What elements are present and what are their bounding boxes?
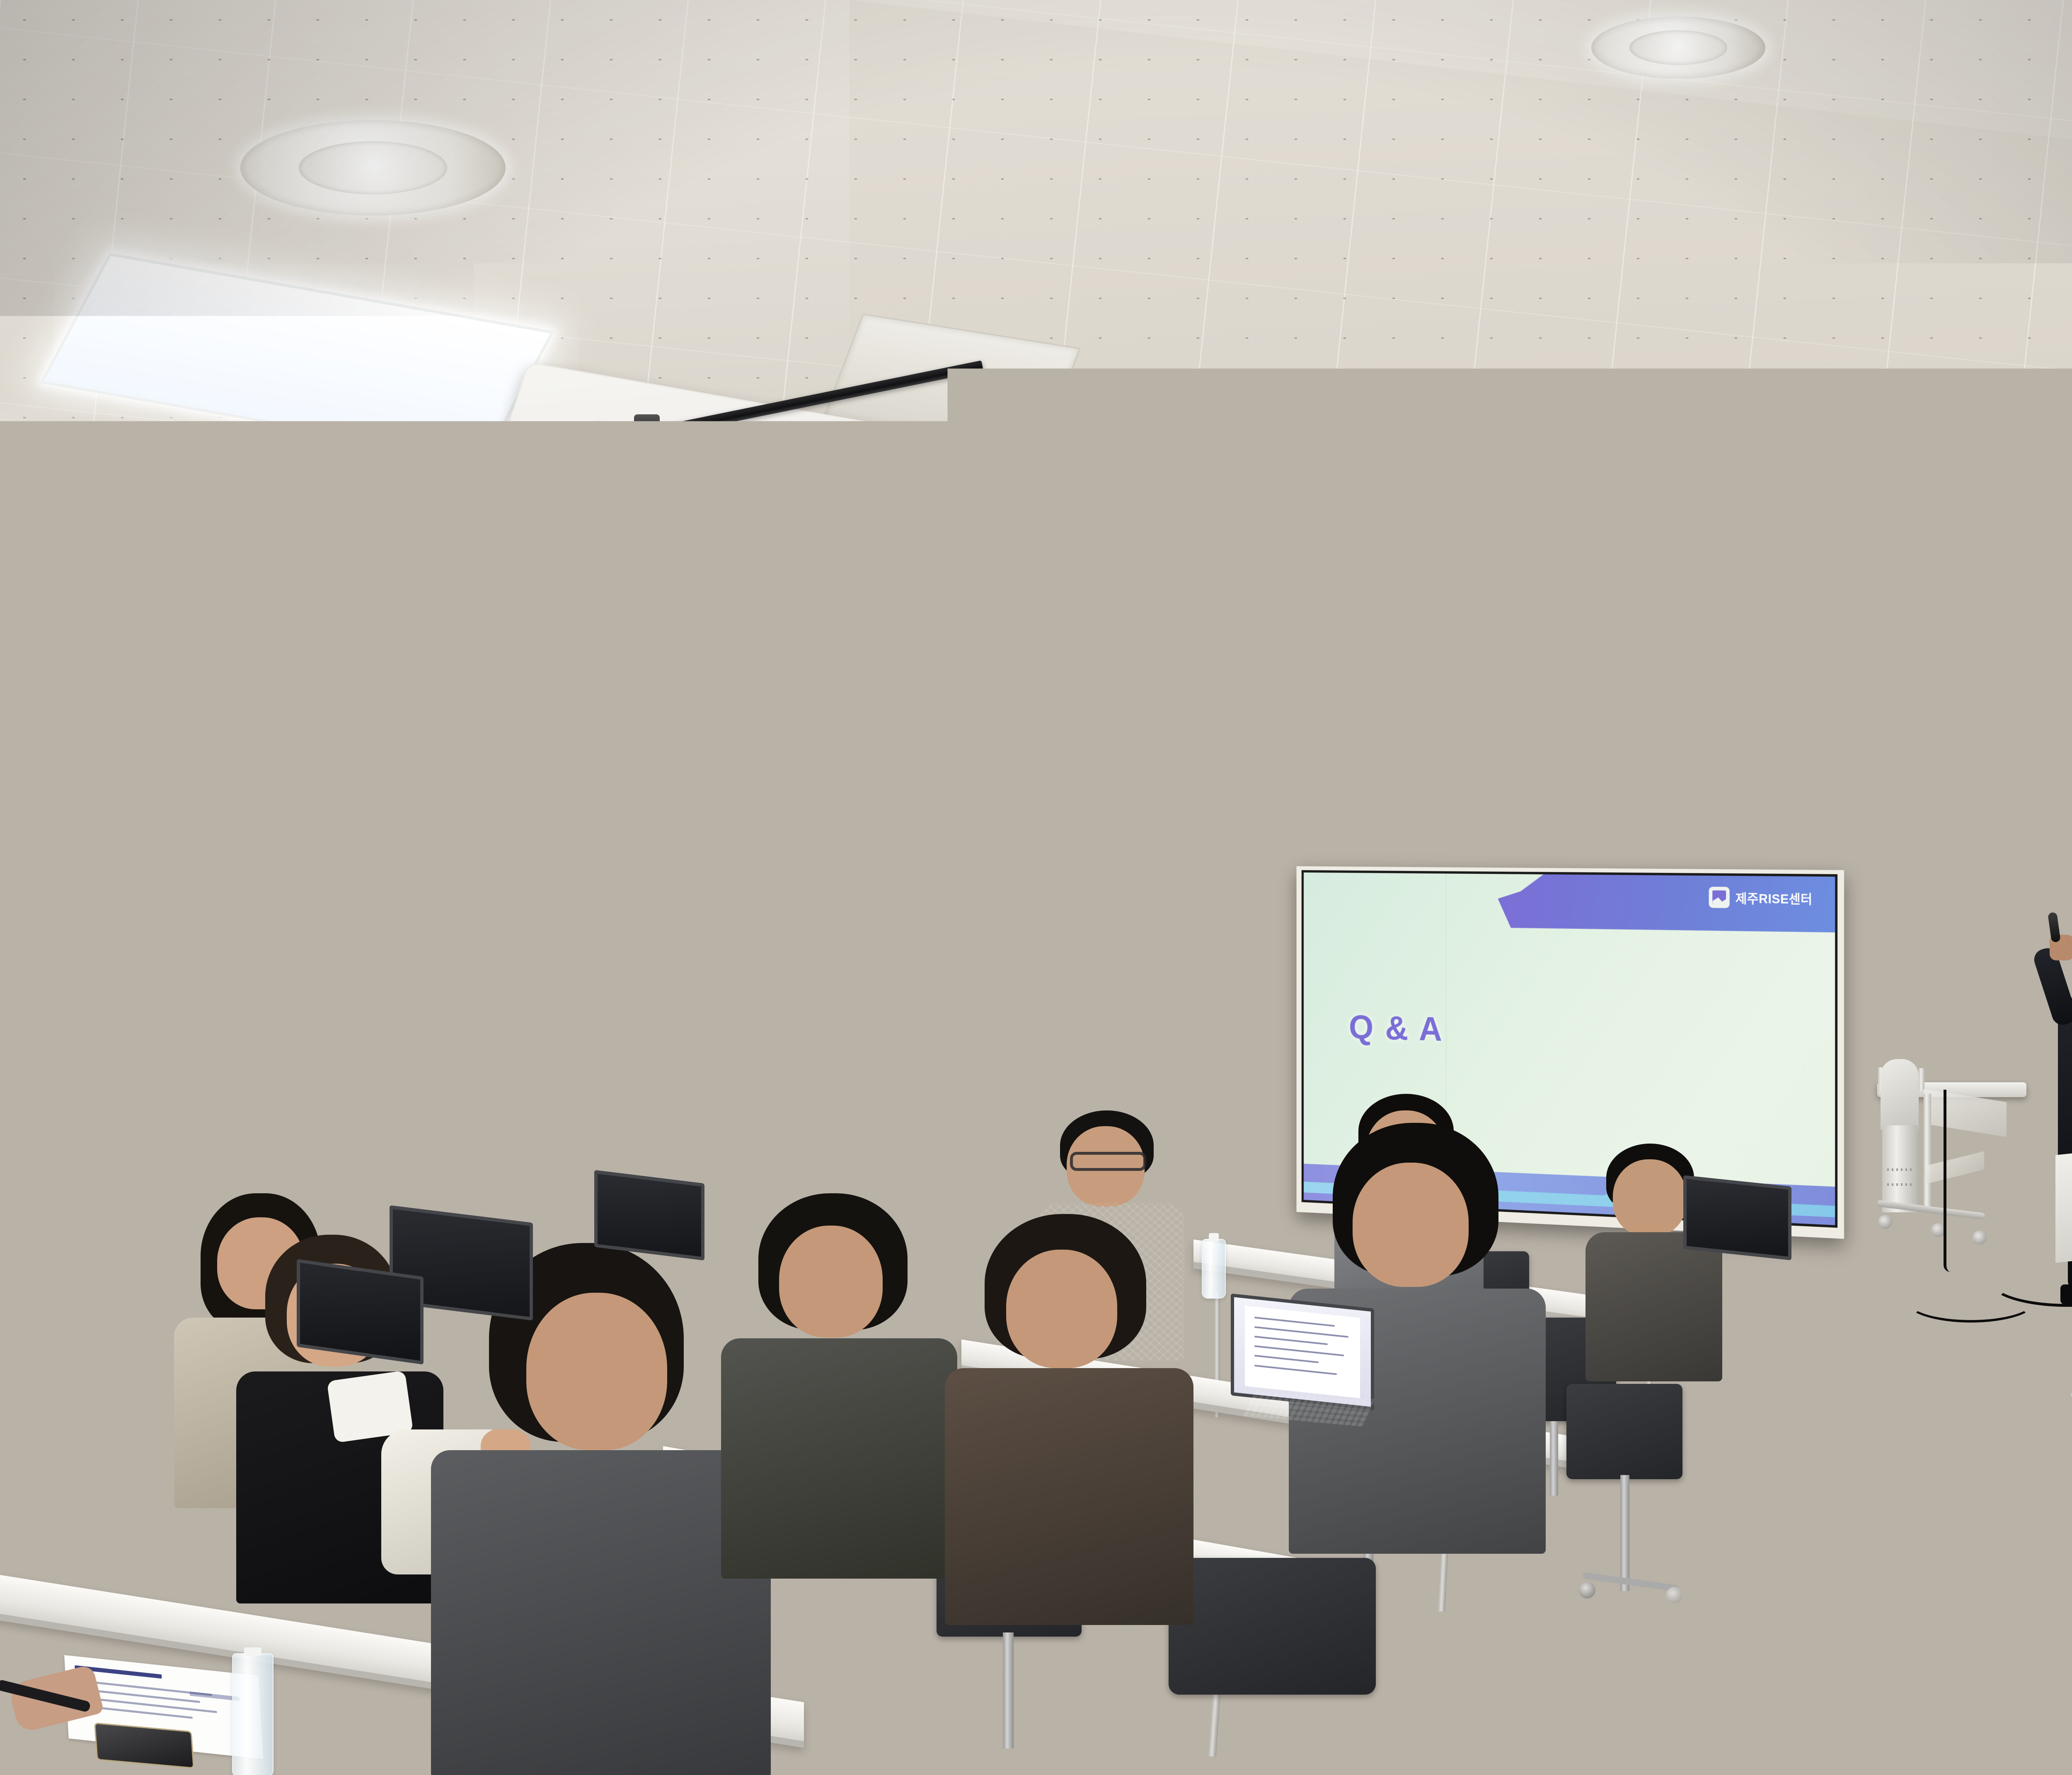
taegeuk-circle (919, 993, 968, 1042)
round-ceiling-light (414, 812, 464, 829)
lectern-caster (1931, 1223, 1945, 1237)
tablet-with-keyboard[interactable] (1218, 1301, 1401, 1450)
window-mullion (0, 1018, 456, 1027)
lectern-vent-holes (1887, 1168, 1913, 1171)
flag-finial (932, 878, 946, 900)
lectern-laptop[interactable] (1917, 1036, 1995, 1086)
trigram-bar (920, 1067, 933, 1074)
eyeglasses-icon (808, 1132, 880, 1150)
eyeglasses-icon (1070, 1152, 1146, 1171)
window-mullion (217, 854, 225, 1028)
laptop[interactable] (1678, 1181, 1811, 1276)
backpack[interactable] (1672, 1462, 1818, 1729)
flag-fringe-bottom (953, 1115, 972, 1139)
audience-member (961, 1214, 1177, 1620)
water-bottle-foreground[interactable] (232, 1653, 274, 1775)
trigram-bar (921, 1057, 949, 1065)
brown-jacket (945, 1368, 1193, 1625)
floor-cable (1906, 1280, 2036, 1323)
laptop-screen[interactable] (297, 1259, 424, 1364)
slide-logo-text: 제주RISE센터 (1736, 888, 1813, 908)
office-chair[interactable] (1566, 1384, 1691, 1616)
wall-loudspeaker (509, 895, 581, 1007)
audience-member (738, 1193, 937, 1566)
window-header-trim (0, 841, 489, 859)
window-mullion (0, 948, 456, 956)
slide-headline: Q & A (1349, 1008, 1444, 1049)
audience-member (50, 1160, 186, 1417)
conference-room-photo: 센터 (0, 0, 2072, 1775)
flag-fringe-bottom (908, 1110, 924, 1133)
trigram-bar (936, 1066, 949, 1073)
round-ceiling-light (240, 120, 506, 215)
laptop[interactable] (290, 1268, 448, 1384)
lectern-cable (1944, 1090, 1951, 1272)
lectern-caster (1878, 1215, 1892, 1229)
laptop-screen[interactable] (594, 1170, 704, 1261)
lectern-caster (1973, 1231, 1987, 1245)
trigram-bar (922, 1076, 950, 1085)
mercedes-benz-star-icon (308, 873, 332, 897)
trigram-bar (917, 950, 946, 960)
olive-jacket (721, 1338, 957, 1579)
paper-stand (2055, 1149, 2072, 1263)
lectern-vent-holes (1887, 1183, 1913, 1186)
round-ceiling-light (1591, 17, 1765, 79)
rise-center-mark-icon (1709, 887, 1730, 908)
speaker-hanger-wire (544, 883, 546, 897)
slide-logo: 제주RISE센터 (1709, 887, 1813, 909)
grey-sweater (431, 1450, 771, 1775)
laptop-screen[interactable] (1683, 1175, 1791, 1260)
trigram-bar (917, 960, 946, 970)
projector-support-pole (934, 696, 939, 779)
glass-building-outside (244, 852, 452, 955)
water-bottle[interactable] (1202, 1239, 1226, 1299)
mobile-lectern[interactable] (1873, 1044, 2039, 1293)
laptop[interactable] (588, 1177, 725, 1276)
office-chair[interactable] (1169, 1558, 1384, 1757)
